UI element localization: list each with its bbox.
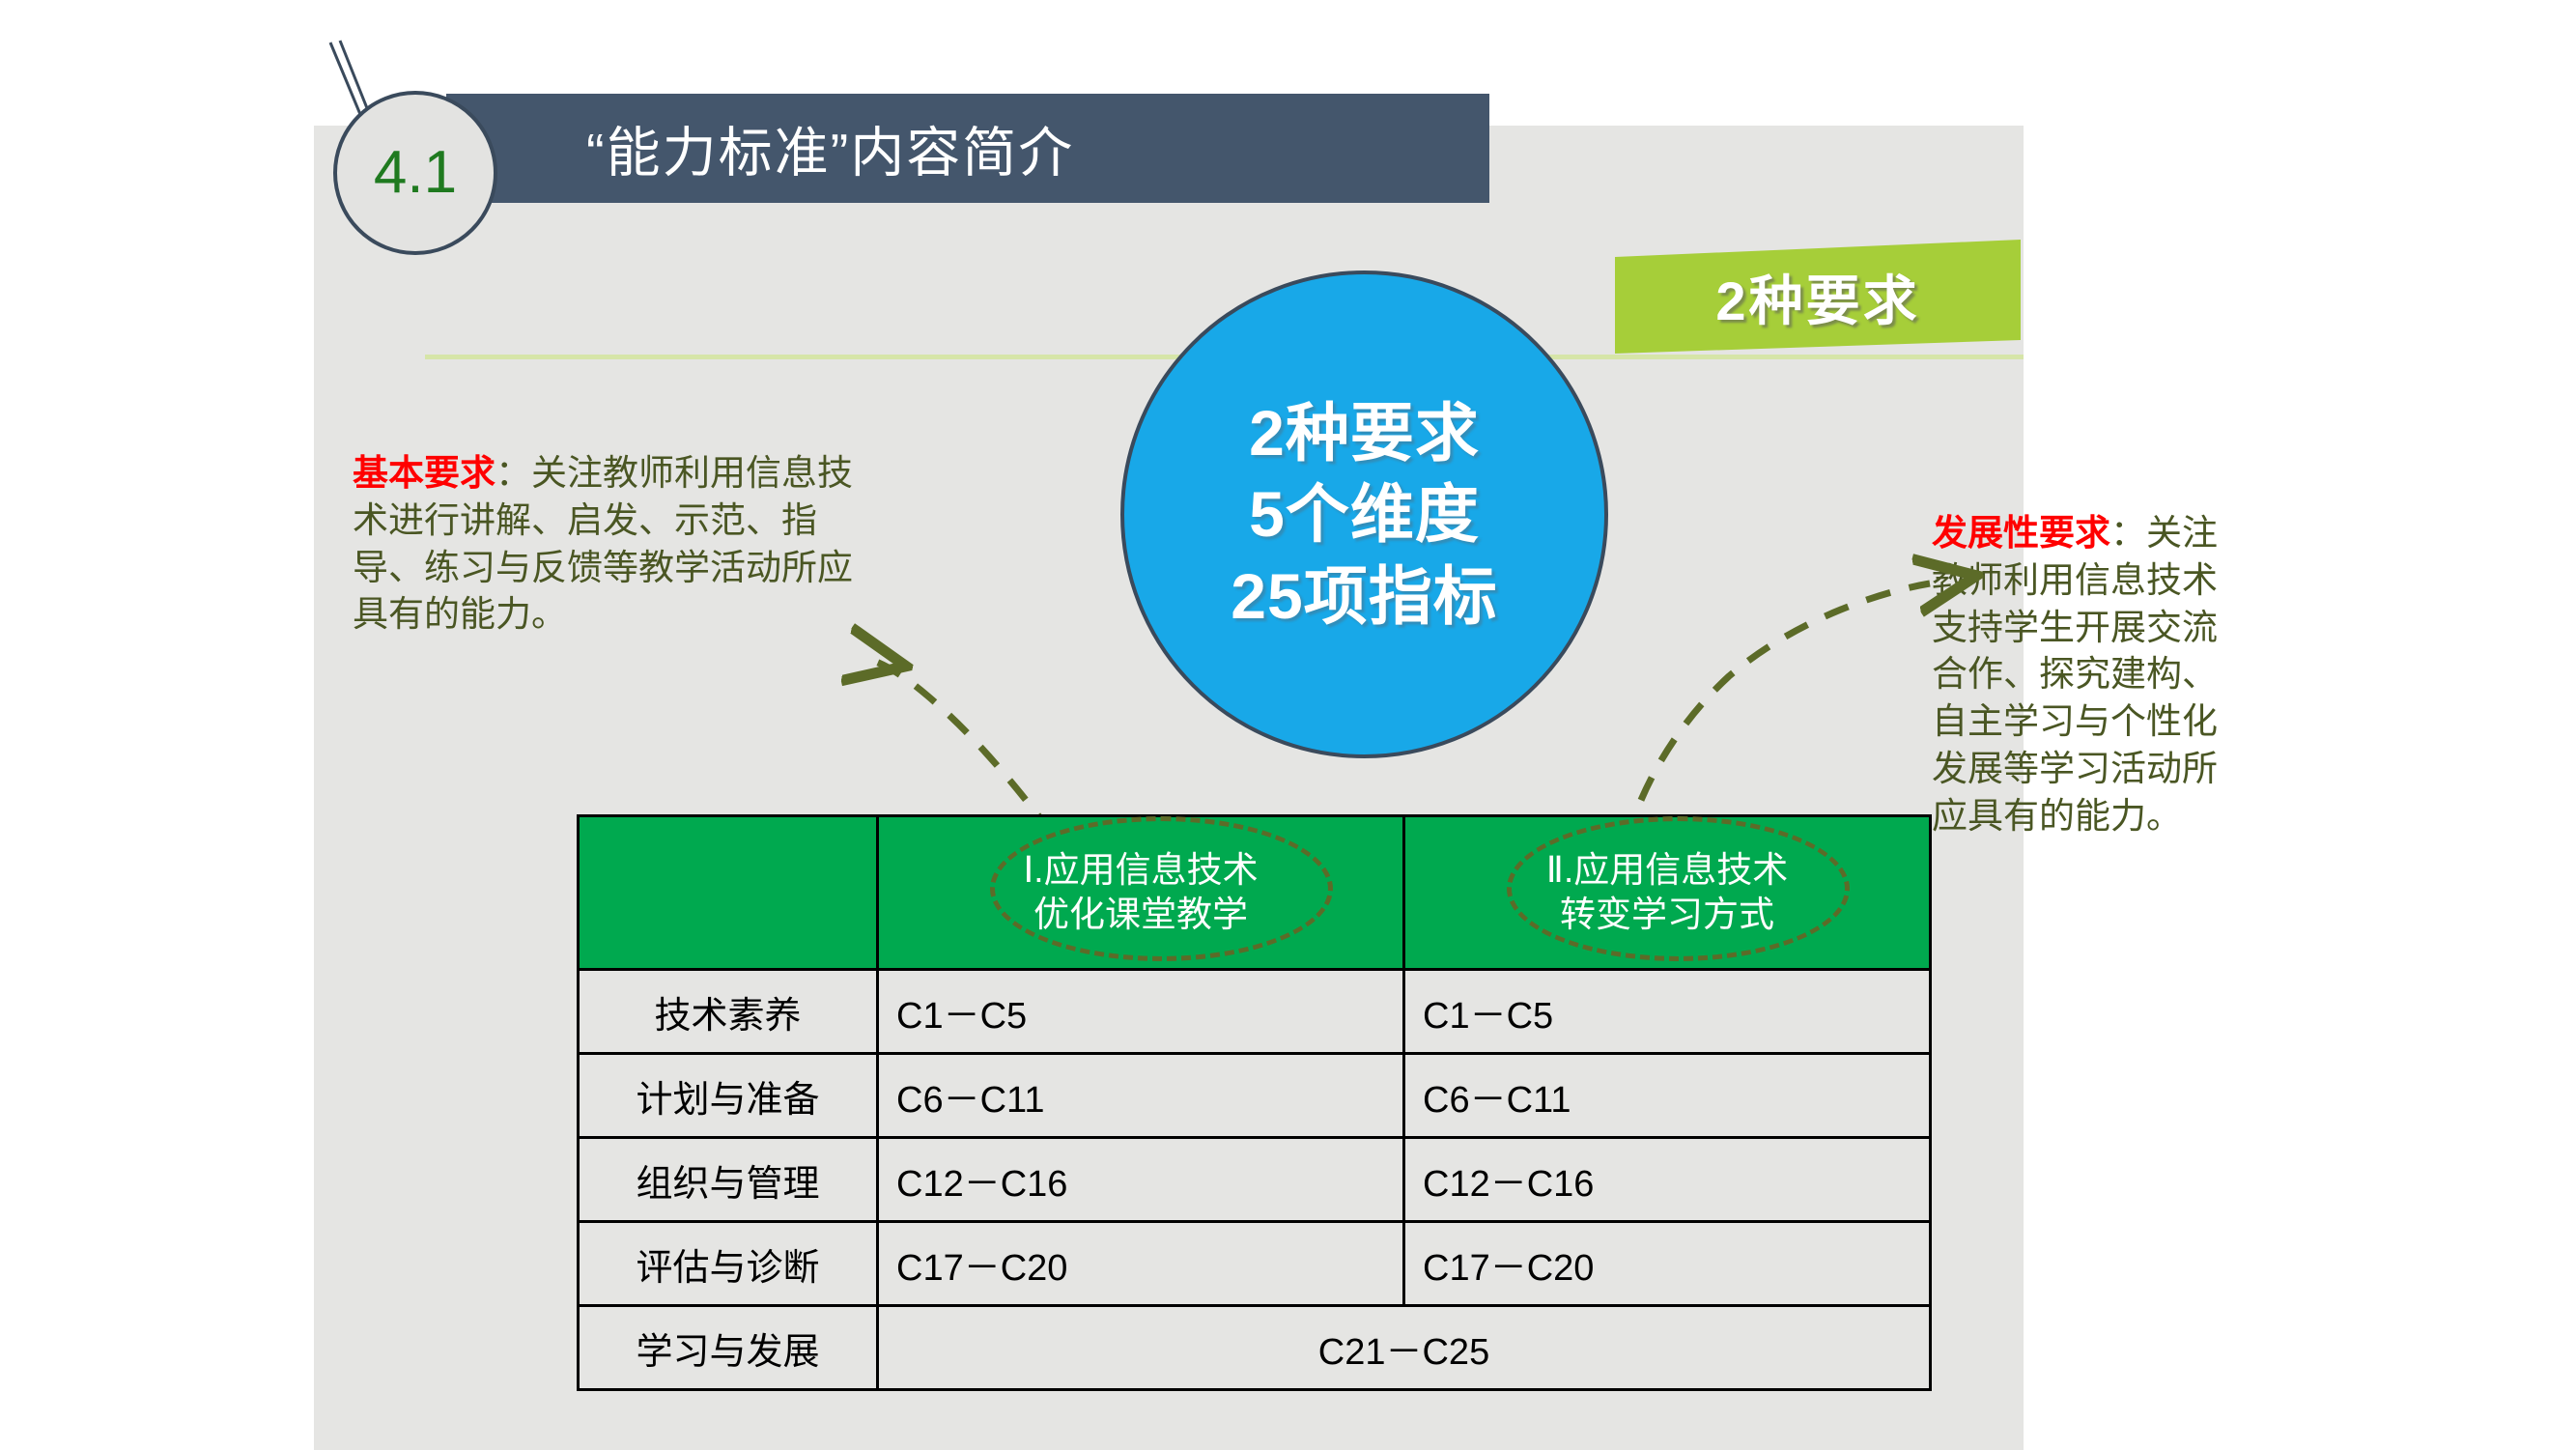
developmental-requirement-lead: 发展性要求 (1932, 513, 2110, 553)
capability-matrix-table: Ⅰ.应用信息技术 优化课堂教学 Ⅱ.应用信息技术 转变学习方式 技术素养 C1－… (577, 814, 1932, 1391)
requirements-banner: 2种要求 (1615, 240, 2021, 354)
table-row: 计划与准备 C6－C11 C6－C11 (579, 1054, 1931, 1138)
row-label: 评估与诊断 (579, 1222, 878, 1306)
header-2-line-1: Ⅱ.应用信息技术 (1415, 848, 1919, 893)
title-bar: “能力标准”内容简介 (446, 94, 1489, 203)
summary-circle: 2种要求 5个维度 25项指标 (1120, 270, 1608, 758)
row-cell-col2: C12－C16 (1404, 1138, 1931, 1222)
row-cell-col1: C1－C5 (878, 970, 1404, 1054)
header-1-line-1: Ⅰ.应用信息技术 (889, 848, 1393, 893)
header-1-line-2: 优化课堂教学 (889, 893, 1393, 937)
row-cell-col1: C6－C11 (878, 1054, 1404, 1138)
basic-requirement-lead: 基本要求 (353, 453, 495, 493)
row-label: 计划与准备 (579, 1054, 878, 1138)
summary-circle-line-3: 25项指标 (1231, 555, 1497, 637)
banner-label: 2种要求 (1615, 240, 2021, 354)
developmental-requirement-colon: ： (2110, 513, 2146, 553)
section-number-badge: 4.1 (333, 91, 497, 255)
page-title: “能力标准”内容简介 (586, 109, 1074, 187)
row-cell-col2: C6－C11 (1404, 1054, 1931, 1138)
summary-circle-line-1: 2种要求 (1249, 392, 1480, 473)
row-cell-col1: C17－C20 (878, 1222, 1404, 1306)
table-header-row: Ⅰ.应用信息技术 优化课堂教学 Ⅱ.应用信息技术 转变学习方式 (579, 816, 1931, 970)
section-number-label: 4.1 (374, 143, 457, 203)
row-cell-col2: C1－C5 (1404, 970, 1931, 1054)
basic-requirement-note: 基本要求：关注教师利用信息技术进行讲解、启发、示范、指导、练习与反馈等教学活动所… (353, 450, 855, 639)
row-cell-merged: C21－C25 (878, 1306, 1931, 1390)
header-2-line-2: 转变学习方式 (1415, 893, 1919, 937)
row-cell-col1: C12－C16 (878, 1138, 1404, 1222)
row-label: 组织与管理 (579, 1138, 878, 1222)
developmental-requirement-note: 发展性要求：关注教师利用信息技术支持学生开展交流合作、探究建构、自主学习与个性化… (1932, 510, 2239, 840)
table-row: 评估与诊断 C17－C20 C17－C20 (579, 1222, 1931, 1306)
basic-requirement-colon: ： (495, 453, 531, 493)
table-row: 学习与发展 C21－C25 (579, 1306, 1931, 1390)
table-corner-cell (579, 816, 878, 970)
row-label: 技术素养 (579, 970, 878, 1054)
table-row: 组织与管理 C12－C16 C12－C16 (579, 1138, 1931, 1222)
table-header-dimension-1: Ⅰ.应用信息技术 优化课堂教学 (878, 816, 1404, 970)
row-cell-col2: C17－C20 (1404, 1222, 1931, 1306)
row-label: 学习与发展 (579, 1306, 878, 1390)
table-header-dimension-2: Ⅱ.应用信息技术 转变学习方式 (1404, 816, 1931, 970)
summary-circle-line-2: 5个维度 (1249, 473, 1480, 554)
developmental-requirement-body: 关注教师利用信息技术支持学生开展交流合作、探究建构、自主学习与个性化发展等学习活… (1932, 513, 2218, 836)
table-row: 技术素养 C1－C5 C1－C5 (579, 970, 1931, 1054)
